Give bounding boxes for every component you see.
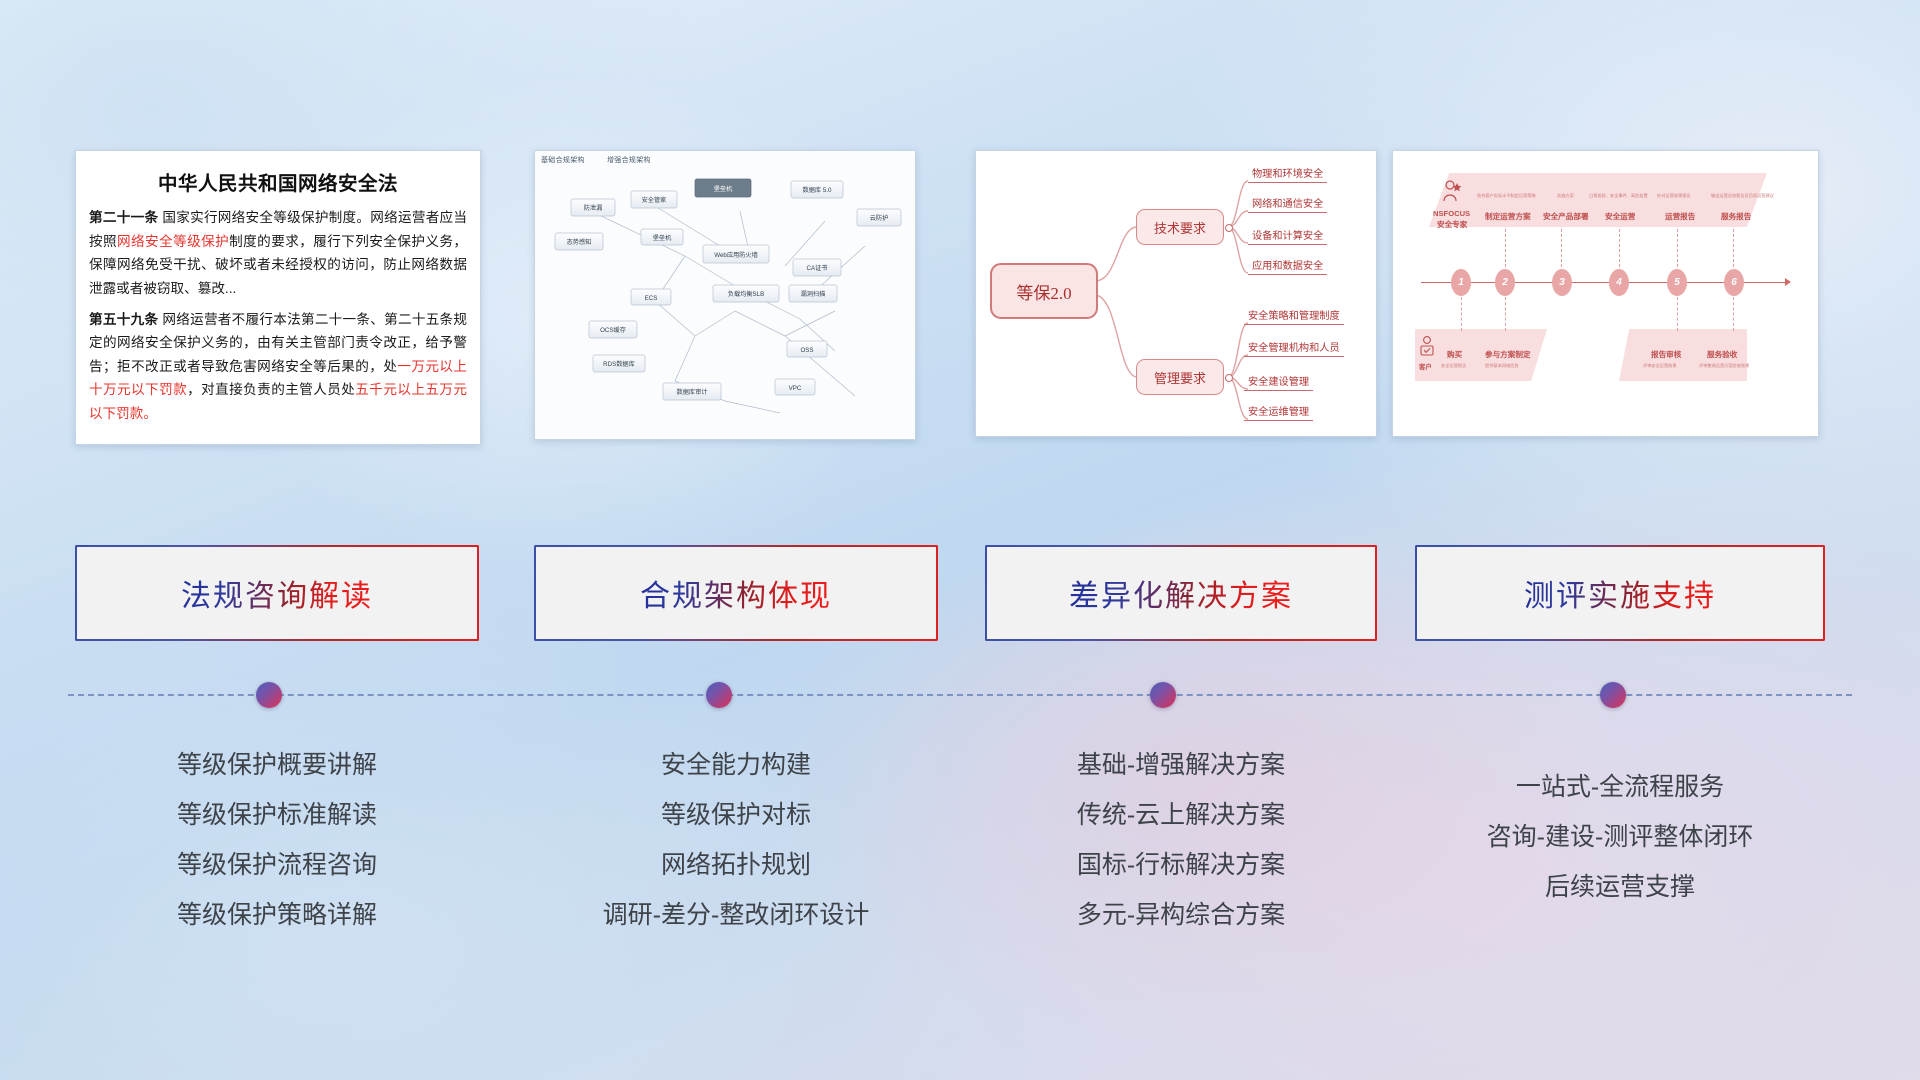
flow-connector <box>1677 229 1678 267</box>
svg-text:Web应用防火墙: Web应用防火墙 <box>714 251 758 259</box>
flow-top-sub: 输出运营总结报告及后续运营建议 <box>1711 193 1774 199</box>
expert-role-line-2: 安全专家 <box>1437 219 1467 230</box>
section-label-differentiated-solution[interactable]: 差异化解决方案 <box>985 545 1377 641</box>
law-article-59-label: 第五十九条 <box>89 312 158 327</box>
flow-step-number: 1 <box>1451 269 1471 296</box>
svg-text:OSS: OSS <box>800 347 813 354</box>
flow-bottom-title: 报告审核 <box>1651 349 1681 360</box>
list-item: 咨询-建设-测评整体闭环 <box>1415 812 1825 862</box>
flow-connector <box>1505 229 1506 267</box>
timeline-dot[interactable] <box>706 682 732 708</box>
cards-row: 中华人民共和国网络安全法 第二十一条 国家实行网络安全等级保护制度。网络运营者应… <box>0 150 1920 450</box>
security-expert-icon <box>1441 179 1463 205</box>
flow-bottom-sub: 安全运营报告 <box>1441 363 1466 369</box>
flow-top-title: 安全产品部署 <box>1543 211 1589 222</box>
flow-connector <box>1461 297 1462 331</box>
timeline-dot[interactable] <box>1600 682 1626 708</box>
mindmap-branch-technical[interactable]: 技术要求 <box>1136 209 1224 245</box>
flow-connector <box>1619 229 1620 267</box>
list-item: 传统-云上解决方案 <box>985 790 1377 840</box>
list-item: 多元-异构综合方案 <box>985 890 1377 940</box>
architecture-diagram: 基础合规架构 增强合规架构 <box>535 151 915 439</box>
section-label-compliance-architecture[interactable]: 合规架构体现 <box>534 545 938 641</box>
flow-top-title: 服务报告 <box>1721 211 1751 222</box>
svg-text:VPC: VPC <box>789 385 802 392</box>
mindmap: 等保2.0 技术要求 管理要求 物理和环境安全 网络和通信安全 设备和计算安全 … <box>976 151 1376 436</box>
list-item: 国标-行标解决方案 <box>985 840 1377 890</box>
svg-text:数据库审计: 数据库审计 <box>677 388 708 396</box>
svg-text:RDS数据库: RDS数据库 <box>603 360 635 368</box>
mindmap-leaf: 安全管理机构和人员 <box>1244 339 1344 357</box>
flow-top-sub: 针对运营效果报告 <box>1657 193 1691 199</box>
svg-text:堡垒机: 堡垒机 <box>653 234 672 242</box>
svg-text:漏洞扫描: 漏洞扫描 <box>801 290 826 298</box>
flow-top-sub: 日常巡检、安全事件、高危处置 <box>1589 193 1648 199</box>
flow-connector <box>1733 229 1734 267</box>
flow-bottom-title: 参与方案制定 <box>1485 349 1531 360</box>
flow-step-number: 6 <box>1724 269 1744 296</box>
mindmap-collapse-dot-management[interactable] <box>1225 374 1233 382</box>
mindmap-leaf: 安全运维管理 <box>1244 403 1313 421</box>
flow-bottom-title: 购买 <box>1447 349 1462 360</box>
flow-axis-arrow-icon <box>1785 278 1791 286</box>
svg-text:防泄漏: 防泄漏 <box>584 204 603 212</box>
flow-step-number: 4 <box>1609 269 1629 296</box>
detail-list-regulation-consulting: 等级保护概要讲解 等级保护标准解读 等级保护流程咨询 等级保护策略详解 <box>75 740 479 940</box>
flow-bottom-title: 服务验收 <box>1707 349 1737 360</box>
flow-top-title: 制定运营方案 <box>1485 211 1531 222</box>
list-item: 等级保护概要讲解 <box>75 740 479 790</box>
card-mindmap[interactable]: 等保2.0 技术要求 管理要求 物理和环境安全 网络和通信安全 设备和计算安全 … <box>975 150 1377 437</box>
flow-connector <box>1561 229 1562 267</box>
list-item: 调研-差分-整改闭环设计 <box>534 890 938 940</box>
mindmap-leaf: 应用和数据安全 <box>1248 257 1327 275</box>
svg-text:云防护: 云防护 <box>870 214 889 222</box>
mindmap-leaf: 网络和通信安全 <box>1248 195 1327 213</box>
list-item: 网络拓扑规划 <box>534 840 938 890</box>
customer-role-label: 客户 <box>1419 362 1432 371</box>
mindmap-branch-management[interactable]: 管理要求 <box>1136 359 1224 395</box>
flow-bottom-sub: 提供基本网络信息 <box>1485 363 1519 369</box>
detail-list-differentiated-solution: 基础-增强解决方案 传统-云上解决方案 国标-行标解决方案 多元-异构综合方案 <box>985 740 1377 940</box>
svg-text:负载均衡SLB: 负载均衡SLB <box>728 290 764 298</box>
list-item: 一站式-全流程服务 <box>1415 762 1825 812</box>
list-item: 等级保护策略详解 <box>75 890 479 940</box>
section-label-text: 合规架构体现 <box>640 571 832 615</box>
svg-text:堡垒机: 堡垒机 <box>714 185 733 193</box>
svg-text:安全管家: 安全管家 <box>642 196 667 204</box>
list-item: 等级保护流程咨询 <box>75 840 479 890</box>
law-article-59: 第五十九条 网络运营者不履行本法第二十一条、第二十五条规定的网络安全保护义务的，… <box>89 308 467 426</box>
law-body: 第二十一条 国家实行网络安全等级保护制度。网络运营者应当按照网络安全等级保护制度… <box>76 206 480 441</box>
flow-connector <box>1733 297 1734 331</box>
detail-list-compliance-architecture: 安全能力构建 等级保护对标 网络拓扑规划 调研-差分-整改闭环设计 <box>534 740 938 940</box>
mindmap-leaf: 安全建设管理 <box>1244 373 1313 391</box>
card-cybersecurity-law[interactable]: 中华人民共和国网络安全法 第二十一条 国家实行网络安全等级保护制度。网络运营者应… <box>75 150 481 445</box>
flow-step-number: 2 <box>1495 269 1515 296</box>
flow-top-band <box>1429 173 1767 227</box>
card-compliance-architecture[interactable]: 基础合规架构 增强合规架构 <box>534 150 916 440</box>
flow-step-number: 5 <box>1667 269 1687 296</box>
timeline-dot[interactable] <box>256 682 282 708</box>
flow-top-sub: 实施方案 <box>1557 193 1574 199</box>
law-article-59-part2: ，对直接负责的主管人员处 <box>187 382 355 397</box>
flow-connector <box>1505 297 1506 331</box>
svg-text:OCS缓存: OCS缓存 <box>600 326 626 334</box>
law-title: 中华人民共和国网络安全法 <box>76 167 480 196</box>
section-label-regulation-consulting[interactable]: 法规咨询解读 <box>75 545 479 641</box>
law-article-21-highlight: 网络安全等级保护 <box>117 234 229 249</box>
list-item: 后续运营支撑 <box>1415 862 1825 912</box>
timeline-dot[interactable] <box>1150 682 1176 708</box>
flow-top-title: 安全运营 <box>1605 211 1635 222</box>
law-article-21-label: 第二十一条 <box>89 210 158 225</box>
list-item: 等级保护标准解读 <box>75 790 479 840</box>
detail-list-evaluation-support: 一站式-全流程服务 咨询-建设-测评整体闭环 后续运营支撑 <box>1415 762 1825 912</box>
section-label-text: 差异化解决方案 <box>1069 571 1293 615</box>
mindmap-collapse-dot-technical[interactable] <box>1225 224 1233 232</box>
flow-connector <box>1677 297 1678 331</box>
flow-top-title: 运营报告 <box>1665 211 1695 222</box>
flow-step-number: 3 <box>1552 269 1572 296</box>
architecture-svg: 防泄漏 态势感知 安全管家 堡垒机 堡垒机 数据库 5.0 云防护 Web应用防… <box>535 151 915 439</box>
card-service-flow[interactable]: NSFOCUS 安全专家 结合客户实际水平制定运营策略 制定运营方案 实施方案 … <box>1392 150 1819 437</box>
timeline-dashed-line <box>68 694 1852 700</box>
svg-text:态势感知: 态势感知 <box>567 238 592 246</box>
customer-icon <box>1418 335 1436 359</box>
flow-top-sub: 结合客户实际水平制定运营策略 <box>1477 193 1536 199</box>
section-labels-row: 法规咨询解读 合规架构体现 差异化解决方案 测评实施支持 <box>0 545 1920 645</box>
mindmap-leaf: 安全策略和管理制度 <box>1244 307 1344 325</box>
section-label-text: 测评实施支持 <box>1524 571 1716 615</box>
flow-bottom-sub: 评审整改运营方案验收效果 <box>1699 363 1749 369</box>
expert-role-line-1: NSFOCUS <box>1433 209 1470 218</box>
list-item: 安全能力构建 <box>534 740 938 790</box>
mindmap-leaf: 物理和环境安全 <box>1248 165 1327 183</box>
svg-text:CA证书: CA证书 <box>807 264 828 272</box>
mindmap-root-node[interactable]: 等保2.0 <box>990 263 1098 319</box>
law-article-21: 第二十一条 国家实行网络安全等级保护制度。网络运营者应当按照网络安全等级保护制度… <box>89 206 467 301</box>
section-label-text: 法规咨询解读 <box>181 571 373 615</box>
list-item: 基础-增强解决方案 <box>985 740 1377 790</box>
svg-text:ECS: ECS <box>645 295 658 302</box>
section-label-evaluation-support[interactable]: 测评实施支持 <box>1415 545 1825 641</box>
service-flow-diagram: NSFOCUS 安全专家 结合客户实际水平制定运营策略 制定运营方案 实施方案 … <box>1393 151 1818 436</box>
list-item: 等级保护对标 <box>534 790 938 840</box>
mindmap-leaf: 设备和计算安全 <box>1248 227 1327 245</box>
flow-bottom-sub: 评审安全运营效果 <box>1643 363 1677 369</box>
svg-text:数据库 5.0: 数据库 5.0 <box>803 186 832 194</box>
